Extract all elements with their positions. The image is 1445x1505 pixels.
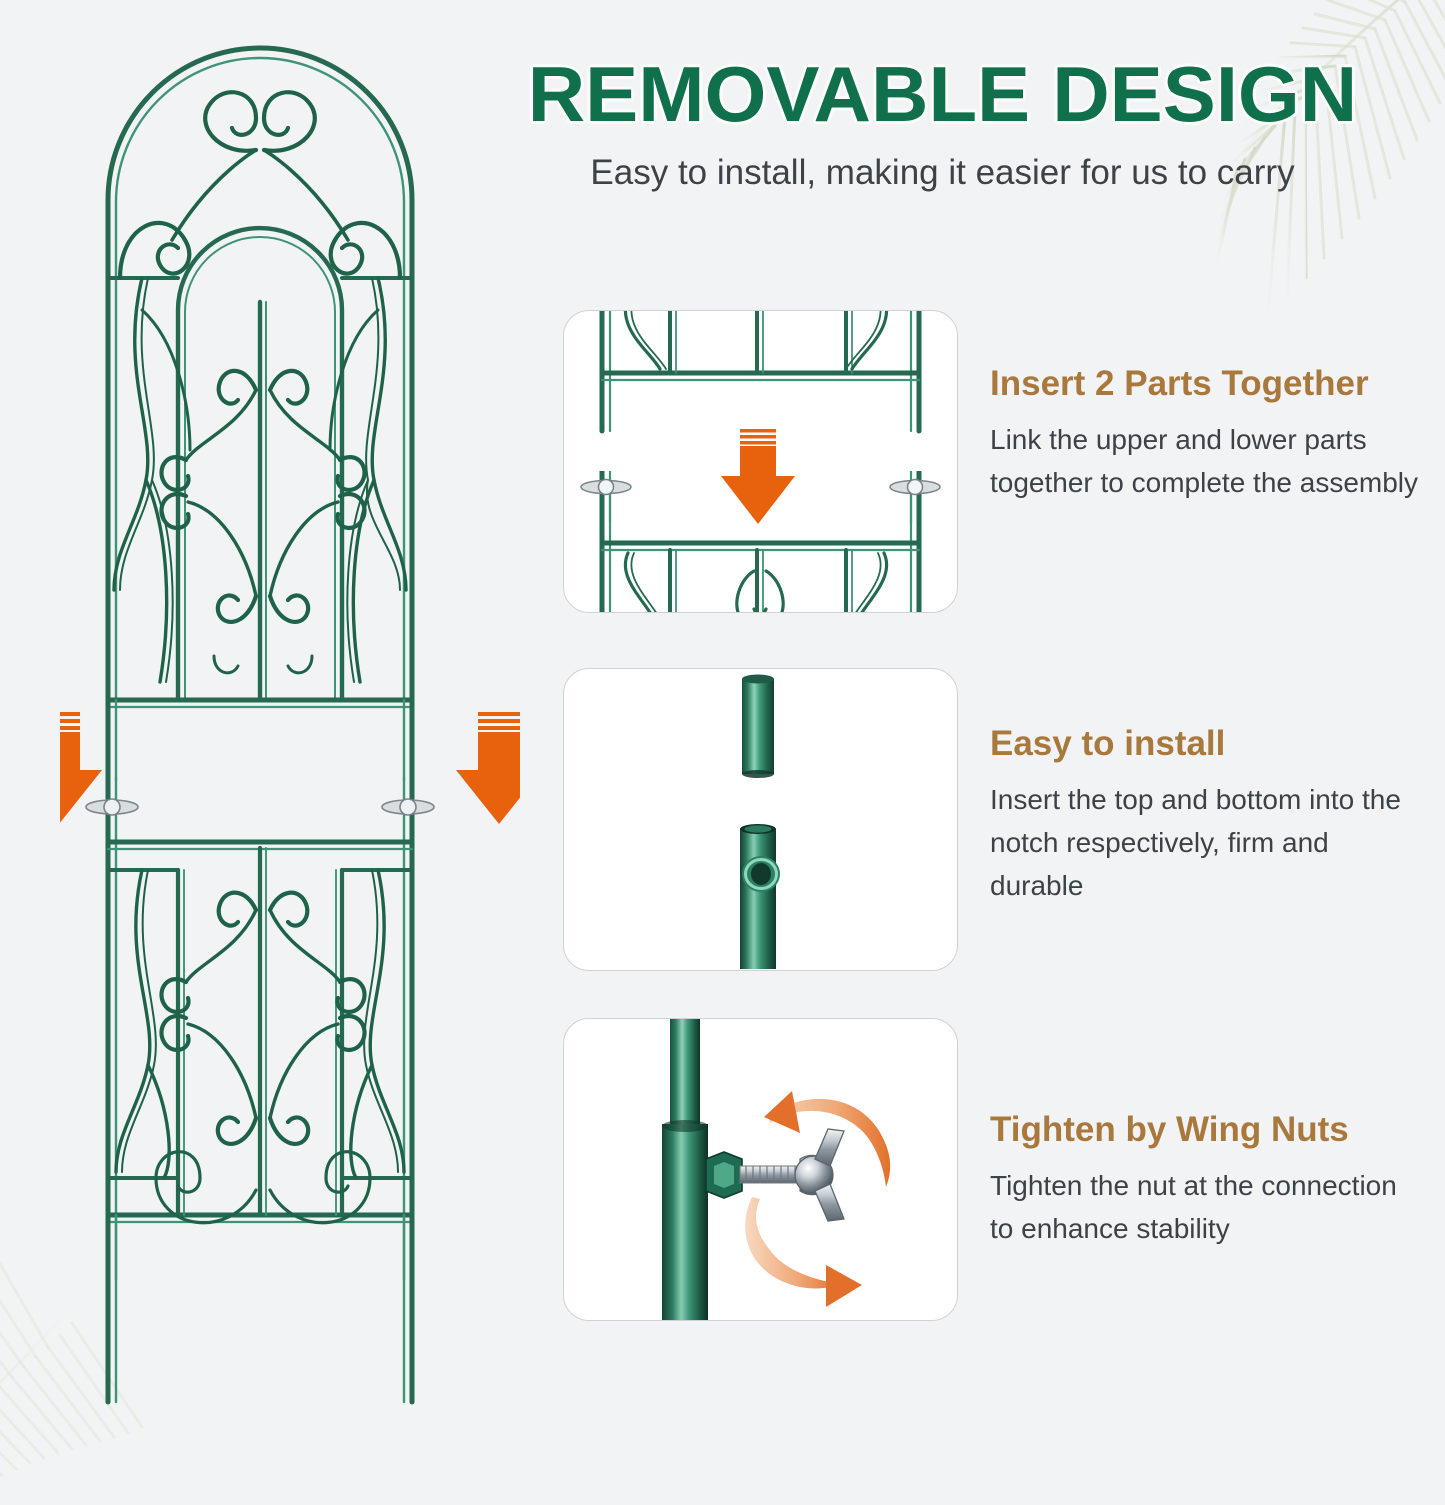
threaded-hole-icon <box>742 856 780 892</box>
hex-nut <box>706 1152 742 1198</box>
illustration-tube-and-socket <box>564 669 957 970</box>
feature-text-tighten-by-wing-nuts: Tighten by Wing Nuts Tighten the nut at … <box>958 1018 1423 1250</box>
rotate-arrow-down-icon <box>745 1197 862 1307</box>
header-block: REMOVABLE DESIGN Easy to install, making… <box>455 52 1430 194</box>
feature-text-insert-2-parts-together: Insert 2 Parts Together Link the upper a… <box>958 310 1423 504</box>
feature-heading: Easy to install <box>990 724 1423 764</box>
feature-body: Tighten the nut at the connection to enh… <box>990 1164 1423 1250</box>
upper-post <box>670 1019 700 1129</box>
page-title: REMOVABLE DESIGN <box>445 52 1440 136</box>
feature-body: Insert the top and bottom into the notch… <box>990 778 1423 907</box>
illustration-wing-nut-tighten <box>564 1019 957 1320</box>
assembly-arrow-right <box>456 712 520 824</box>
feature-body: Link the upper and lower parts together … <box>990 418 1423 504</box>
feature-row-insert-2-parts-together: Insert 2 Parts Together Link the upper a… <box>563 310 1423 613</box>
down-arrow-icon <box>721 429 795 524</box>
product-illustration-trellis <box>60 10 520 1430</box>
feature-heading: Insert 2 Parts Together <box>990 364 1423 404</box>
wing-nut-right-main <box>382 799 434 815</box>
infographic-canvas: REMOVABLE DESIGN Easy to install, making… <box>0 0 1445 1445</box>
illustration-insert-2-parts <box>564 311 957 612</box>
wing-nut-left-main <box>86 799 138 815</box>
lower-tube <box>740 829 776 969</box>
feature-card-tighten-by-wing-nuts <box>563 1018 958 1321</box>
feature-card-insert-2-parts-together <box>563 310 958 613</box>
feature-row-tighten-by-wing-nuts: Tighten by Wing Nuts Tighten the nut at … <box>563 1018 1423 1321</box>
wing-nut-left-card1 <box>581 480 631 495</box>
page-subtitle: Easy to install, making it easier for us… <box>455 152 1430 194</box>
feature-text-easy-to-install: Easy to install Insert the top and botto… <box>958 668 1423 907</box>
upper-tube <box>742 679 774 774</box>
feature-heading: Tighten by Wing Nuts <box>990 1110 1423 1150</box>
wing-nut-icon <box>795 1129 844 1221</box>
wing-nut-right-card1 <box>890 480 940 495</box>
feature-card-easy-to-install <box>563 668 958 971</box>
bolt-shaft <box>740 1166 800 1183</box>
feature-row-easy-to-install: Easy to install Insert the top and botto… <box>563 668 1423 971</box>
lower-post <box>662 1124 708 1320</box>
